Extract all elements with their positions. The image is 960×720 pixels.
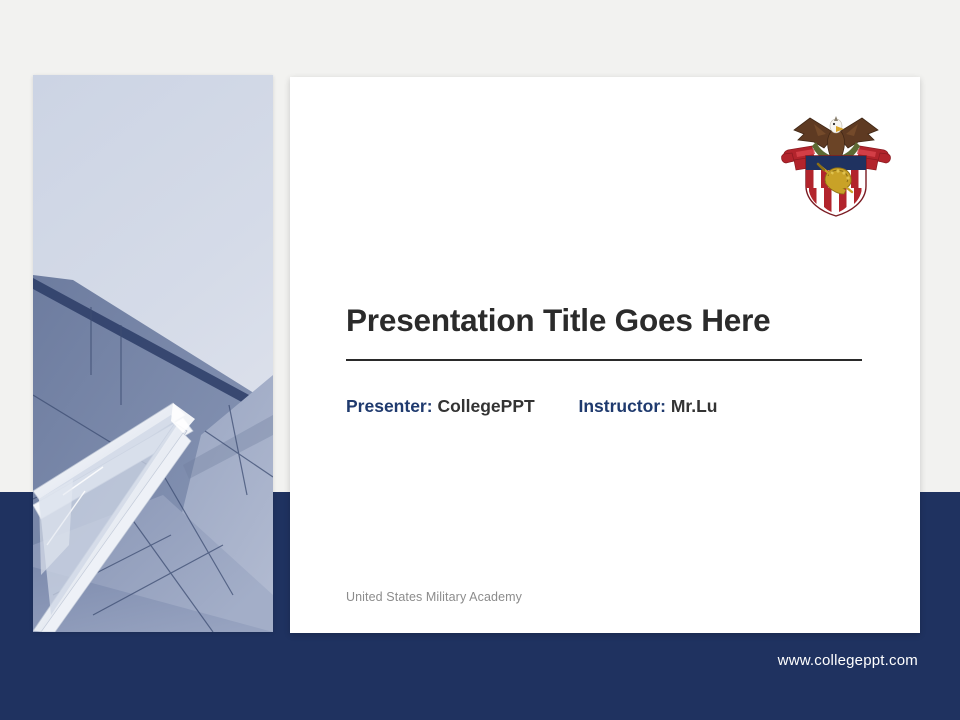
watermark-url: www.collegeppt.com xyxy=(778,652,918,669)
presenter-label: Presenter: xyxy=(346,396,433,416)
instructor-label: Instructor: xyxy=(578,396,666,416)
architecture-photo xyxy=(33,75,273,632)
page-title: Presentation Title Goes Here xyxy=(346,302,864,338)
institution-name: United States Military Academy xyxy=(346,590,522,604)
instructor-value: Mr.Lu xyxy=(671,396,718,416)
title-block: Presentation Title Goes Here xyxy=(346,302,864,361)
presentation-slide: Presentation Title Goes Here Presenter: … xyxy=(0,0,960,720)
usma-crest-icon xyxy=(780,108,892,218)
title-divider xyxy=(346,359,862,361)
presenter-value: CollegePPT xyxy=(437,396,534,416)
byline: Presenter: CollegePPT Instructor: Mr.Lu xyxy=(346,396,718,417)
